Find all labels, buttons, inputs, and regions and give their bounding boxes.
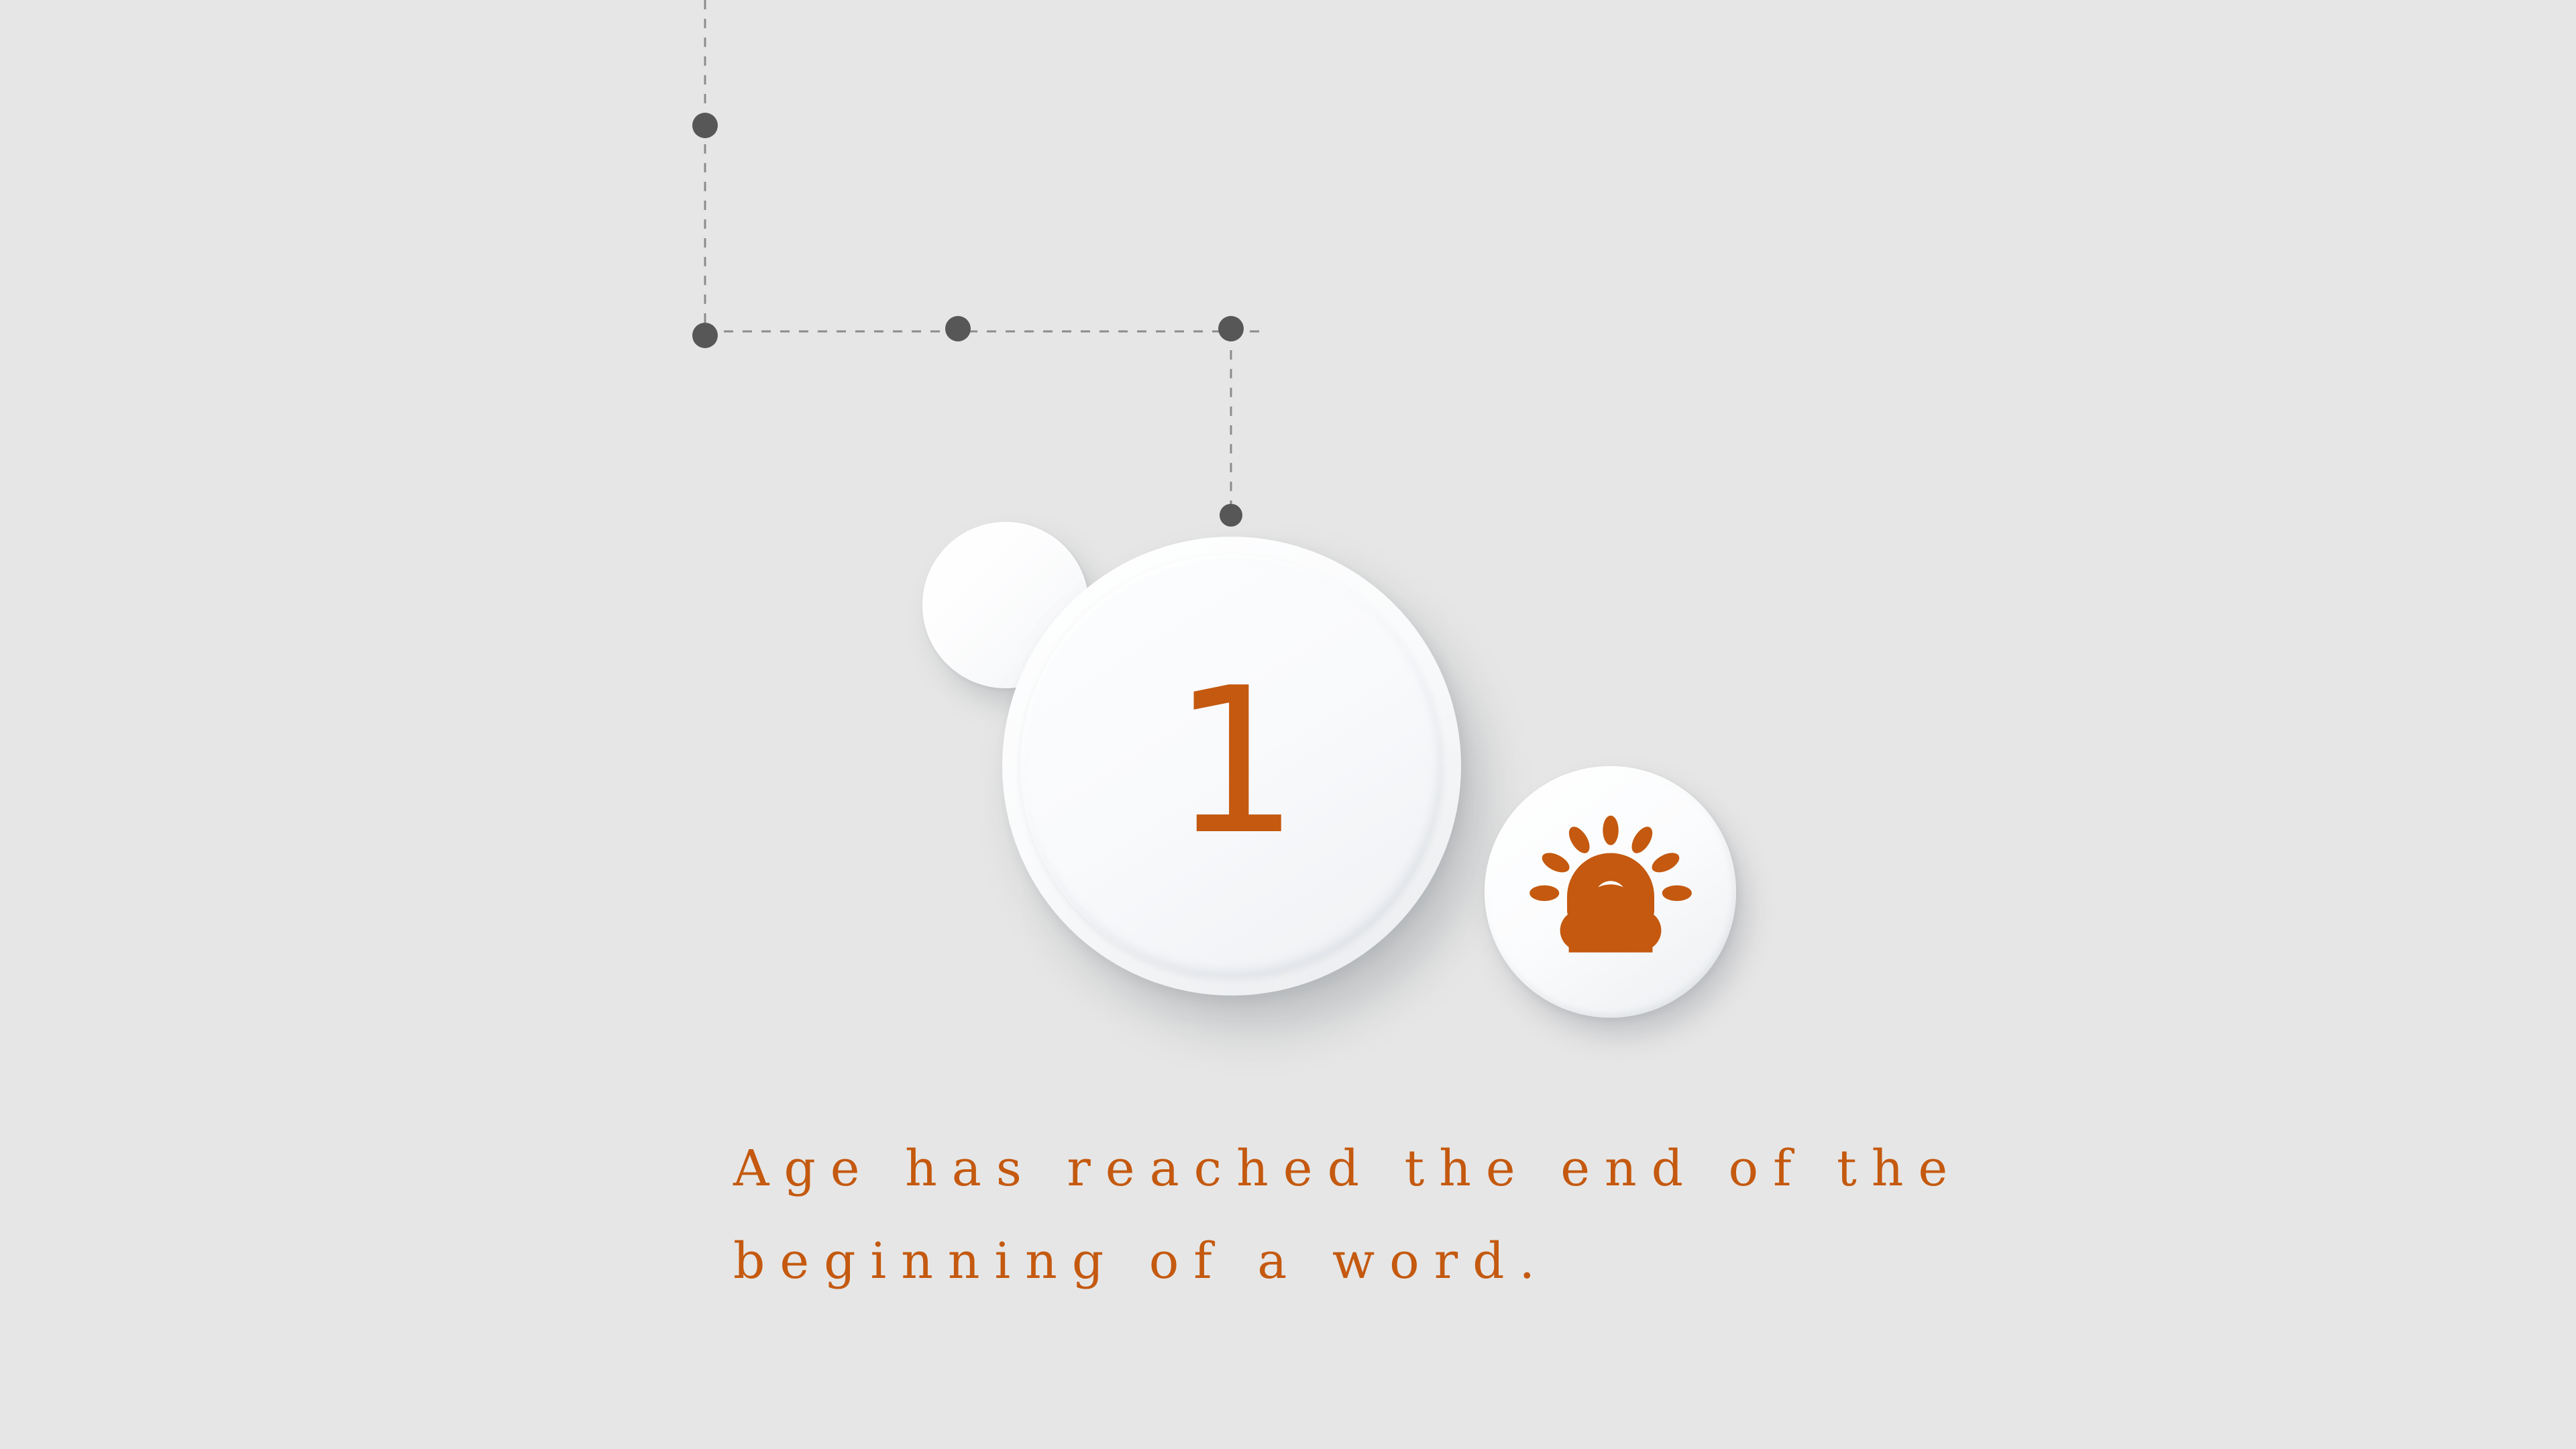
sun-ray-upper-left [1564, 823, 1593, 857]
sun-ray-upper-right [1627, 823, 1656, 857]
step-number: 1 [1172, 661, 1300, 863]
sun-behind-cloud-icon [1523, 808, 1698, 982]
slide-canvas: 1 [0, 0, 2576, 1449]
sun-ray-left [1539, 849, 1572, 876]
sun-ray-far-right [1662, 885, 1691, 900]
step-disc[interactable]: 1 [1002, 537, 1461, 996]
sun-ray-right [1648, 849, 1682, 876]
sun-ray-far-left [1529, 885, 1559, 900]
weather-badge[interactable] [1485, 766, 1736, 1018]
caption-text: Age has reached the end of the beginning… [733, 1122, 2008, 1307]
step-disc-face: 1 [1020, 555, 1443, 977]
sun-ray-top [1603, 815, 1618, 845]
